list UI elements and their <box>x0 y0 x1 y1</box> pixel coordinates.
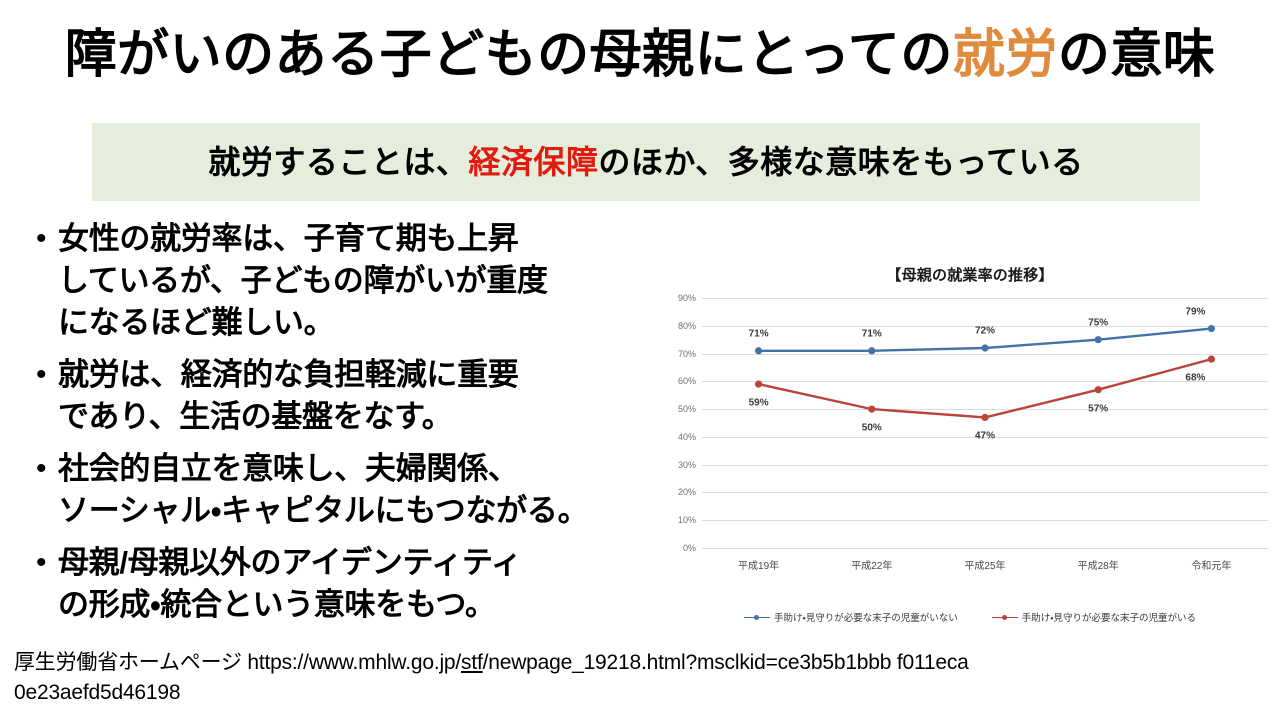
chart-x-tick-label: 平成25年 <box>964 557 1005 572</box>
chart-data-label: 71% <box>749 328 769 339</box>
chart-data-point <box>868 406 875 413</box>
chart-legend: 手助け・見守りが必要な末子の児童がいない手助け・見守りが必要な末子の児童がいる <box>660 610 1280 624</box>
source-line-1: 厚生労働省ホームページ https://www.mhlw.go.jp/stf/n… <box>14 651 969 674</box>
bullet-dot-icon: • <box>36 218 58 260</box>
chart-legend-label: 手助け・見守りが必要な末子の児童がいる <box>1022 610 1196 624</box>
page-title-part-1: 障がいのある子どもの母親にとっての <box>65 26 953 84</box>
chart-data-point <box>755 381 762 388</box>
list-item: •就労は、経済的な負担軽減に重要 であり、生活の基盤をなす。 <box>36 354 676 438</box>
chart-container: 【母親の就業率の推移】 0%10%20%30%40%50%60%70%80%90… <box>660 258 1280 638</box>
chart-data-label: 50% <box>862 423 882 434</box>
bullet-dot-icon: • <box>36 542 58 584</box>
chart-data-point <box>1208 325 1215 332</box>
chart-data-label: 47% <box>975 431 995 442</box>
banner-accent: 経済保障 <box>468 144 598 180</box>
bullet-dot-icon: • <box>36 448 58 490</box>
chart-x-tick-label: 平成22年 <box>851 557 892 572</box>
chart-x-tick-label: 平成19年 <box>738 557 779 572</box>
chart-data-label: 68% <box>1185 373 1205 384</box>
banner-part-1: 就労することは、 <box>208 144 468 180</box>
list-item-text: 女性の就労率は、子育て期も上昇 しているが、子どもの障がいが重度 になるほど難し… <box>58 218 676 344</box>
chart-plot-area: 0%10%20%30%40%50%60%70%80%90%71%71%72%75… <box>660 290 1280 582</box>
list-item: •母親/母親以外のアイデンティティ の形成・統合という意味をもつ。 <box>36 542 676 626</box>
source-underlined-segment[interactable]: stf <box>461 651 483 674</box>
chart-line-series-1 <box>759 359 1212 417</box>
chart-data-label: 72% <box>975 326 995 337</box>
source-suffix: /newpage_19218.html?msclkid=ce3b5b1bbb f… <box>483 651 969 674</box>
highlight-banner: 就労することは、経済保障のほか、多様な意味をもっている <box>92 123 1200 201</box>
list-item: •女性の就労率は、子育て期も上昇 しているが、子どもの障がいが重度 になるほど難… <box>36 218 676 344</box>
chart-legend-swatch-icon <box>744 613 770 622</box>
list-item-text: 社会的自立を意味し、夫婦関係、 ソーシャル・キャピタルにもつながる。 <box>58 448 676 532</box>
highlight-banner-text: 就労することは、経済保障のほか、多様な意味をもっている <box>208 142 1083 182</box>
chart-data-point <box>868 347 875 354</box>
source-prefix: 厚生労働省ホームページ https://www.mhlw.go.jp/ <box>14 651 461 674</box>
chart-x-tick-label: 令和元年 <box>1191 557 1231 572</box>
chart-data-point <box>1208 356 1215 363</box>
chart-title: 【母親の就業率の推移】 <box>660 264 1280 285</box>
chart-data-label: 79% <box>1185 306 1205 317</box>
chart-data-point <box>1095 386 1102 393</box>
chart-data-label: 57% <box>1088 403 1108 414</box>
chart-data-label: 71% <box>862 328 882 339</box>
source-line-2: 0e23aefd5d46198 <box>14 681 180 704</box>
chart-data-label: 75% <box>1088 317 1108 328</box>
page-title-part-2: の意味 <box>1058 26 1216 84</box>
chart-data-label: 59% <box>749 398 769 409</box>
chart-legend-entry[interactable]: 手助け・見守りが必要な末子の児童がいない <box>744 610 958 624</box>
list-item: •社会的自立を意味し、夫婦関係、 ソーシャル・キャピタルにもつながる。 <box>36 448 676 532</box>
page-title-accent: 就労 <box>953 26 1058 84</box>
list-item-text: 母親/母親以外のアイデンティティ の形成・統合という意味をもつ。 <box>58 542 676 626</box>
chart-legend-label: 手助け・見守りが必要な末子の児童がいない <box>774 610 958 624</box>
chart-legend-swatch-icon <box>992 613 1018 622</box>
list-item-text: 就労は、経済的な負担軽減に重要 であり、生活の基盤をなす。 <box>58 354 676 438</box>
bullet-list: •女性の就労率は、子育て期も上昇 しているが、子どもの障がいが重度 になるほど難… <box>36 218 676 636</box>
chart-x-tick-label: 平成28年 <box>1078 557 1119 572</box>
bullet-dot-icon: • <box>36 354 58 396</box>
page-title: 障がいのある子どもの母親にとっての就労の意味 <box>0 24 1280 86</box>
chart-data-point <box>1095 336 1102 343</box>
chart-data-point <box>981 414 988 421</box>
chart-legend-entry[interactable]: 手助け・見守りが必要な末子の児童がいる <box>992 610 1196 624</box>
chart-data-point <box>755 347 762 354</box>
chart-data-point <box>981 344 988 351</box>
source-note: 厚生労働省ホームページ https://www.mhlw.go.jp/stf/n… <box>14 648 1270 708</box>
banner-part-2: のほか、多様な意味をもっている <box>598 144 1083 180</box>
